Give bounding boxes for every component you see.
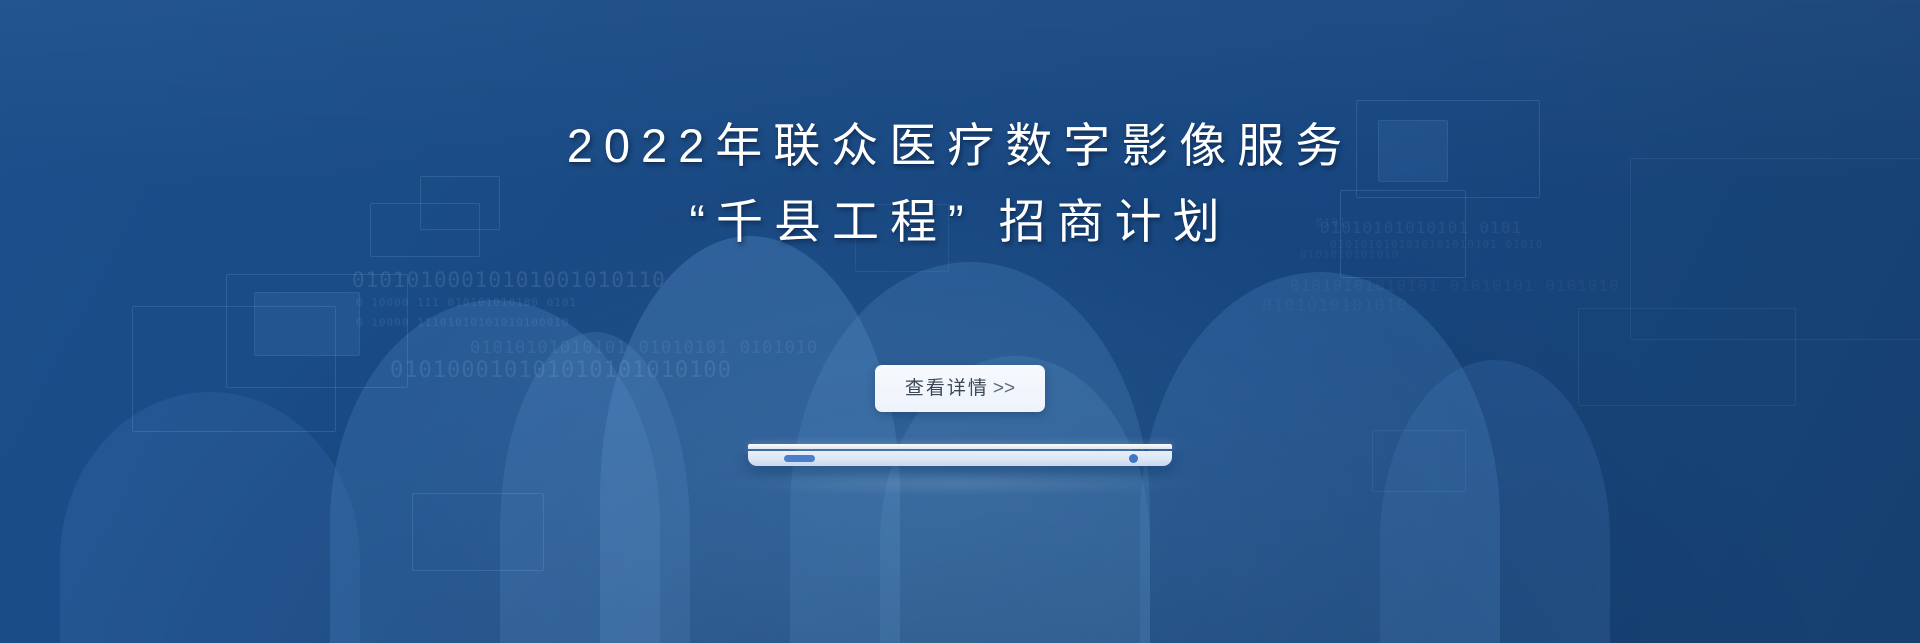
chevron-right-icon: >> — [993, 378, 1015, 399]
cta-label: 查看详情 — [905, 378, 989, 399]
title-line-1: 2022年联众医疗数字影像服务 — [0, 108, 1920, 184]
rect-right-e — [1372, 430, 1466, 492]
title-line-2: “千县工程” 招商计划 — [0, 184, 1920, 260]
rect-left-filled — [254, 292, 360, 356]
laptop-base — [748, 451, 1172, 466]
rect-bottom-left — [412, 493, 544, 571]
laptop-illustration — [748, 444, 1172, 466]
page-title: 2022年联众医疗数字影像服务 “千县工程” 招商计划 — [0, 108, 1920, 260]
promo-banner: 01010100010101001010110 0 10000 111 0101… — [0, 0, 1920, 643]
cta-container: 查看详情>> — [0, 365, 1920, 412]
laptop-indicator-dot-icon — [1129, 454, 1138, 463]
laptop-notch-icon — [784, 455, 815, 462]
view-details-button[interactable]: 查看详情>> — [875, 365, 1045, 412]
